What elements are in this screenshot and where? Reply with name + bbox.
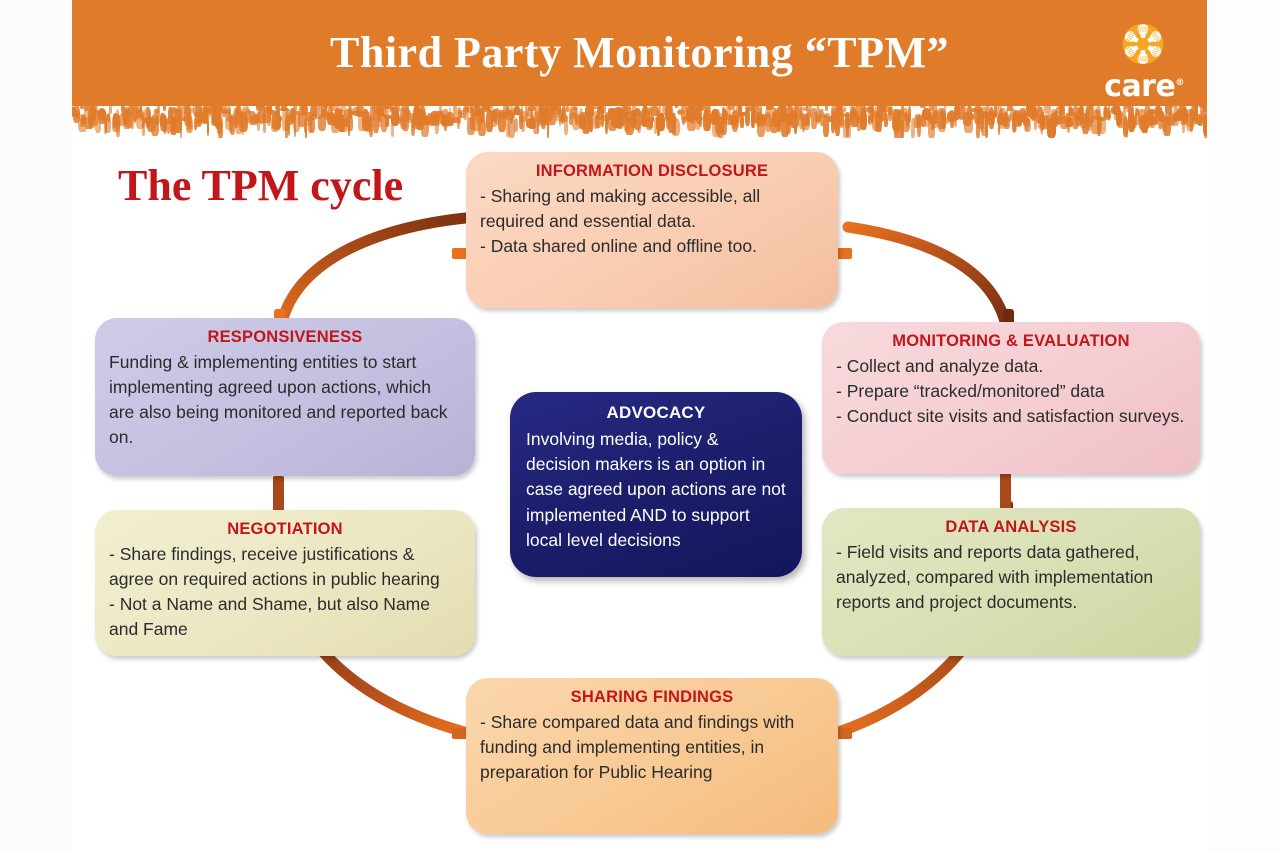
stage-card-advocacy[interactable]: ADVOCACY Involving media, policy & decis… (510, 392, 802, 577)
connector-nub-monitor-analysis (1000, 472, 1011, 510)
diagram-title: The TPM cycle (118, 160, 403, 211)
stage-card-negotiation[interactable]: NEGOTIATION - Share findings, receive ju… (95, 510, 475, 656)
stage-heading-data-analysis: DATA ANALYSIS (836, 516, 1186, 539)
stage-body-responsiveness: Funding & implementing entities to start… (109, 350, 461, 449)
stage-body-monitoring-evaluation: - Collect and analyze data.- Prepare “tr… (836, 354, 1186, 429)
stage-body-negotiation: - Share findings, receive justifications… (109, 542, 461, 641)
header-banner: Third Party Monitoring “TPM” (72, 0, 1207, 104)
page-title: Third Party Monitoring “TPM” (72, 27, 1207, 78)
page-right-margin (1208, 0, 1280, 853)
slide-canvas: Third Party Monitoring “TPM” (0, 0, 1280, 853)
stage-card-monitoring-evaluation[interactable]: MONITORING & EVALUATION - Collect and an… (822, 322, 1200, 474)
care-wordmark-text: care (1104, 69, 1175, 104)
stage-body-sharing-findings: - Share compared data and findings with … (480, 710, 824, 785)
care-logo: care® (1096, 14, 1192, 102)
registered-trademark-icon: ® (1175, 78, 1184, 88)
care-hands-circle-logo (1112, 14, 1174, 74)
stage-heading-sharing-findings: SHARING FINDINGS (480, 686, 824, 709)
stage-body-advocacy: Involving media, policy & decision maker… (526, 427, 786, 554)
page-left-margin (0, 0, 72, 853)
care-wordmark: care® (1096, 68, 1192, 102)
stage-body-data-analysis: - Field visits and reports data gathered… (836, 540, 1186, 615)
stage-heading-negotiation: NEGOTIATION (109, 518, 461, 541)
torn-paper-edge (72, 100, 1207, 138)
stage-body-information-disclosure: - Sharing and making accessible, all req… (480, 184, 824, 259)
stage-heading-monitoring-evaluation: MONITORING & EVALUATION (836, 330, 1186, 353)
stage-heading-advocacy: ADVOCACY (526, 401, 786, 426)
stage-card-sharing-findings[interactable]: SHARING FINDINGS - Share compared data a… (466, 678, 838, 834)
stage-heading-information-disclosure: INFORMATION DISCLOSURE (480, 160, 824, 183)
stage-card-information-disclosure[interactable]: INFORMATION DISCLOSURE - Sharing and mak… (466, 152, 838, 308)
ring-arc-upper-right (848, 227, 1008, 337)
stage-heading-responsiveness: RESPONSIVENESS (109, 326, 461, 349)
stage-card-responsiveness[interactable]: RESPONSIVENESS Funding & implementing en… (95, 318, 475, 476)
stage-card-data-analysis[interactable]: DATA ANALYSIS - Field visits and reports… (822, 508, 1200, 656)
connector-nub-resp-negot (273, 476, 284, 512)
